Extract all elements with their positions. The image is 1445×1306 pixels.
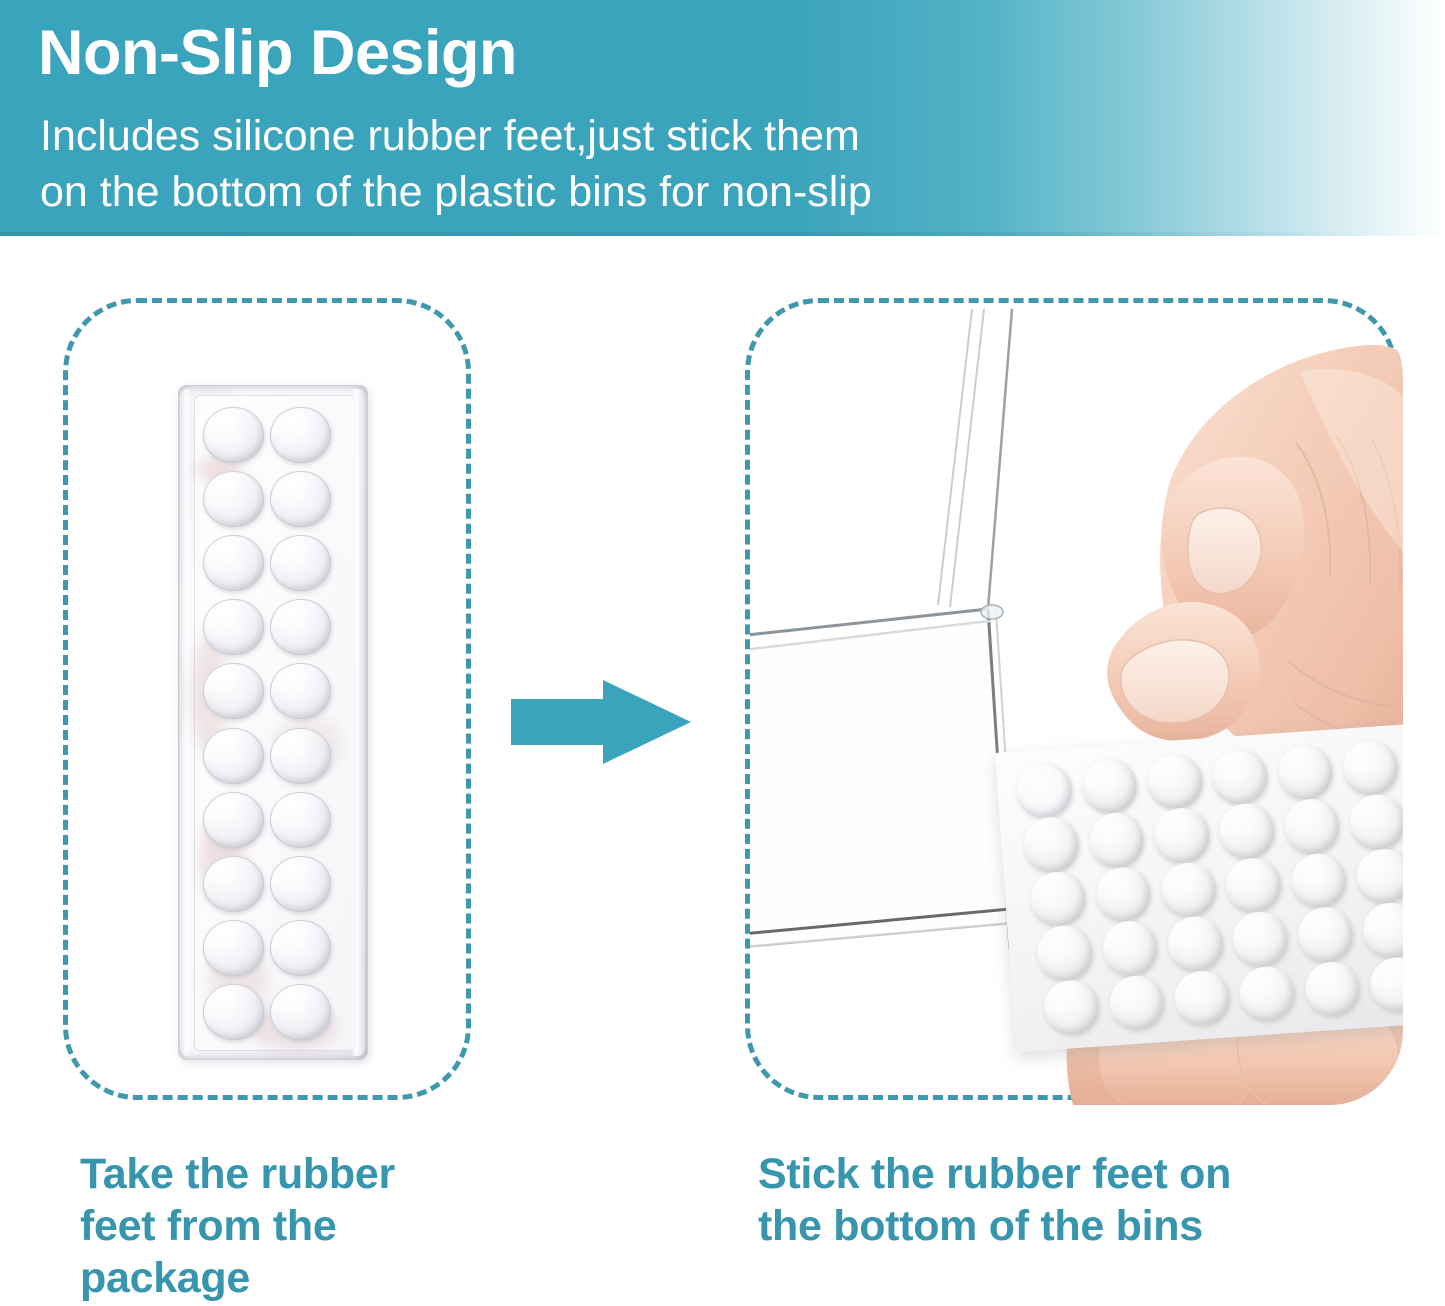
rubber-foot-dome: [203, 471, 263, 527]
rubber-foot-dome: [270, 920, 330, 976]
bin-and-hands-scene: [750, 303, 1403, 1105]
page-subtitle: Includes silicone rubber feet,just stick…: [40, 108, 872, 220]
rubber-foot-dome: [203, 728, 263, 784]
tray-left-highlight: [180, 389, 192, 1056]
subtitle-line-2: on the bottom of the plastic bins for no…: [40, 164, 872, 220]
rubber-foot-dome: [203, 920, 263, 976]
rubber-foot-dome: [270, 856, 330, 912]
arrow-right-icon: [511, 680, 691, 764]
rubber-foot-dome: [203, 984, 263, 1040]
rubber-foot-dome: [270, 535, 330, 591]
tray-right-highlight: [350, 389, 365, 1056]
caption-left-line-2: feet from the: [80, 1200, 510, 1252]
caption-right-line-2: the bottom of the bins: [758, 1200, 1398, 1252]
take-rubber-feet-panel: [63, 298, 471, 1100]
left-panel-caption: Take the rubber feet from the package: [80, 1148, 510, 1304]
rubber-foot-dome: [270, 792, 330, 848]
stick-rubber-feet-panel: [745, 298, 1398, 1100]
rubber-foot-dome: [203, 535, 263, 591]
rubber-foot-dome: [270, 984, 330, 1040]
rubber-foot-dome: [270, 663, 330, 719]
page-title: Non-Slip Design: [38, 10, 517, 96]
blister-tray: [178, 385, 368, 1060]
rubber-foot-dome: [203, 663, 263, 719]
rubber-foot-dome: [203, 792, 263, 848]
caption-left-line-1: Take the rubber: [80, 1148, 510, 1200]
rubber-foot-dome: [270, 471, 330, 527]
header-banner: Non-Slip Design Includes silicone rubber…: [0, 0, 1445, 236]
rubber-foot-dome: [203, 856, 263, 912]
right-panel-caption: Stick the rubber feet on the bottom of t…: [758, 1148, 1398, 1252]
rubber-foot-dome: [270, 407, 330, 463]
caption-left-line-3: package: [80, 1252, 510, 1304]
rubber-foot-dome: [203, 599, 263, 655]
process-flow-arrow: [511, 680, 691, 764]
rubber-feet-blister-strip: [178, 385, 368, 1060]
caption-right-line-1: Stick the rubber feet on: [758, 1148, 1398, 1200]
rubber-foot-dome: [270, 728, 330, 784]
rubber-foot-dome: [203, 407, 263, 463]
white-rubber-feet-sheet: [995, 724, 1403, 1053]
rubber-foot-dome: [270, 599, 330, 655]
subtitle-line-1: Includes silicone rubber feet,just stick…: [40, 108, 872, 164]
